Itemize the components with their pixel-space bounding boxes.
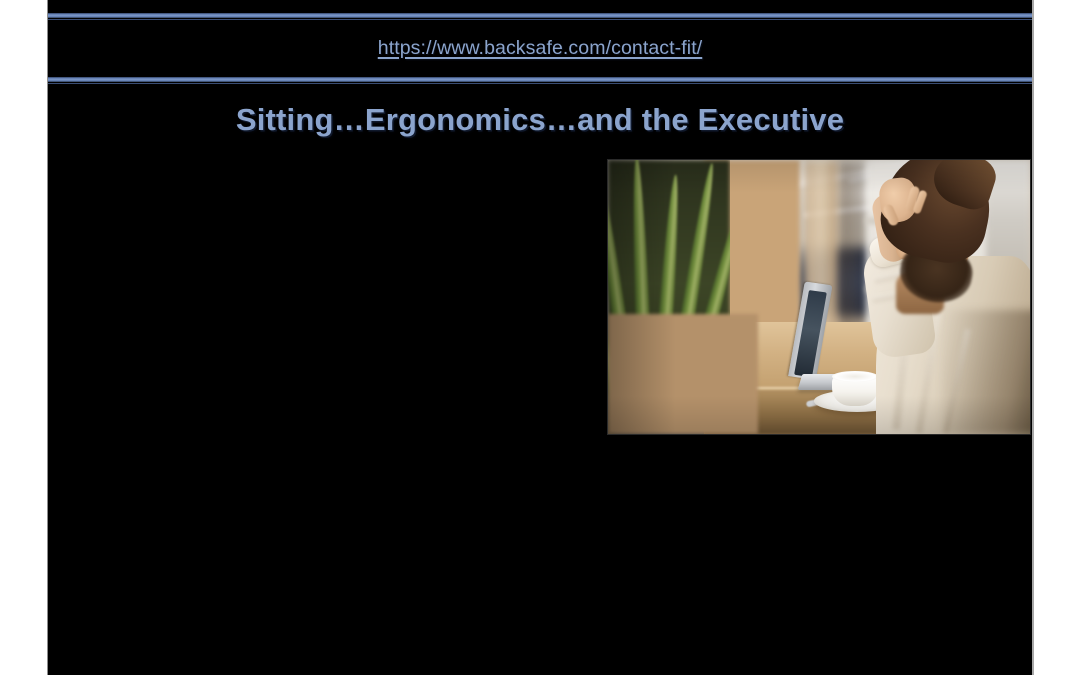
bottom-divider-glow [48, 83, 1032, 84]
bottom-divider-rule [48, 77, 1032, 82]
top-divider-rule [48, 13, 1032, 18]
page-title: Sitting…Ergonomics…and the Executive [48, 100, 1032, 140]
counter-wood-panel [608, 314, 758, 434]
shirt-shadow [942, 310, 1030, 434]
seated-man [822, 160, 1030, 434]
backsafe-contact-fit-link[interactable]: https://www.backsafe.com/contact-fit/ [48, 36, 1032, 60]
slide-right-edge [1032, 0, 1034, 675]
photo-canvas [608, 160, 1030, 434]
slide-page: https://www.backsafe.com/contact-fit/ Si… [0, 0, 1080, 675]
presentation-slide: https://www.backsafe.com/contact-fit/ Si… [48, 0, 1032, 675]
slide-photo [608, 160, 1030, 434]
top-divider-glow [48, 19, 1032, 20]
